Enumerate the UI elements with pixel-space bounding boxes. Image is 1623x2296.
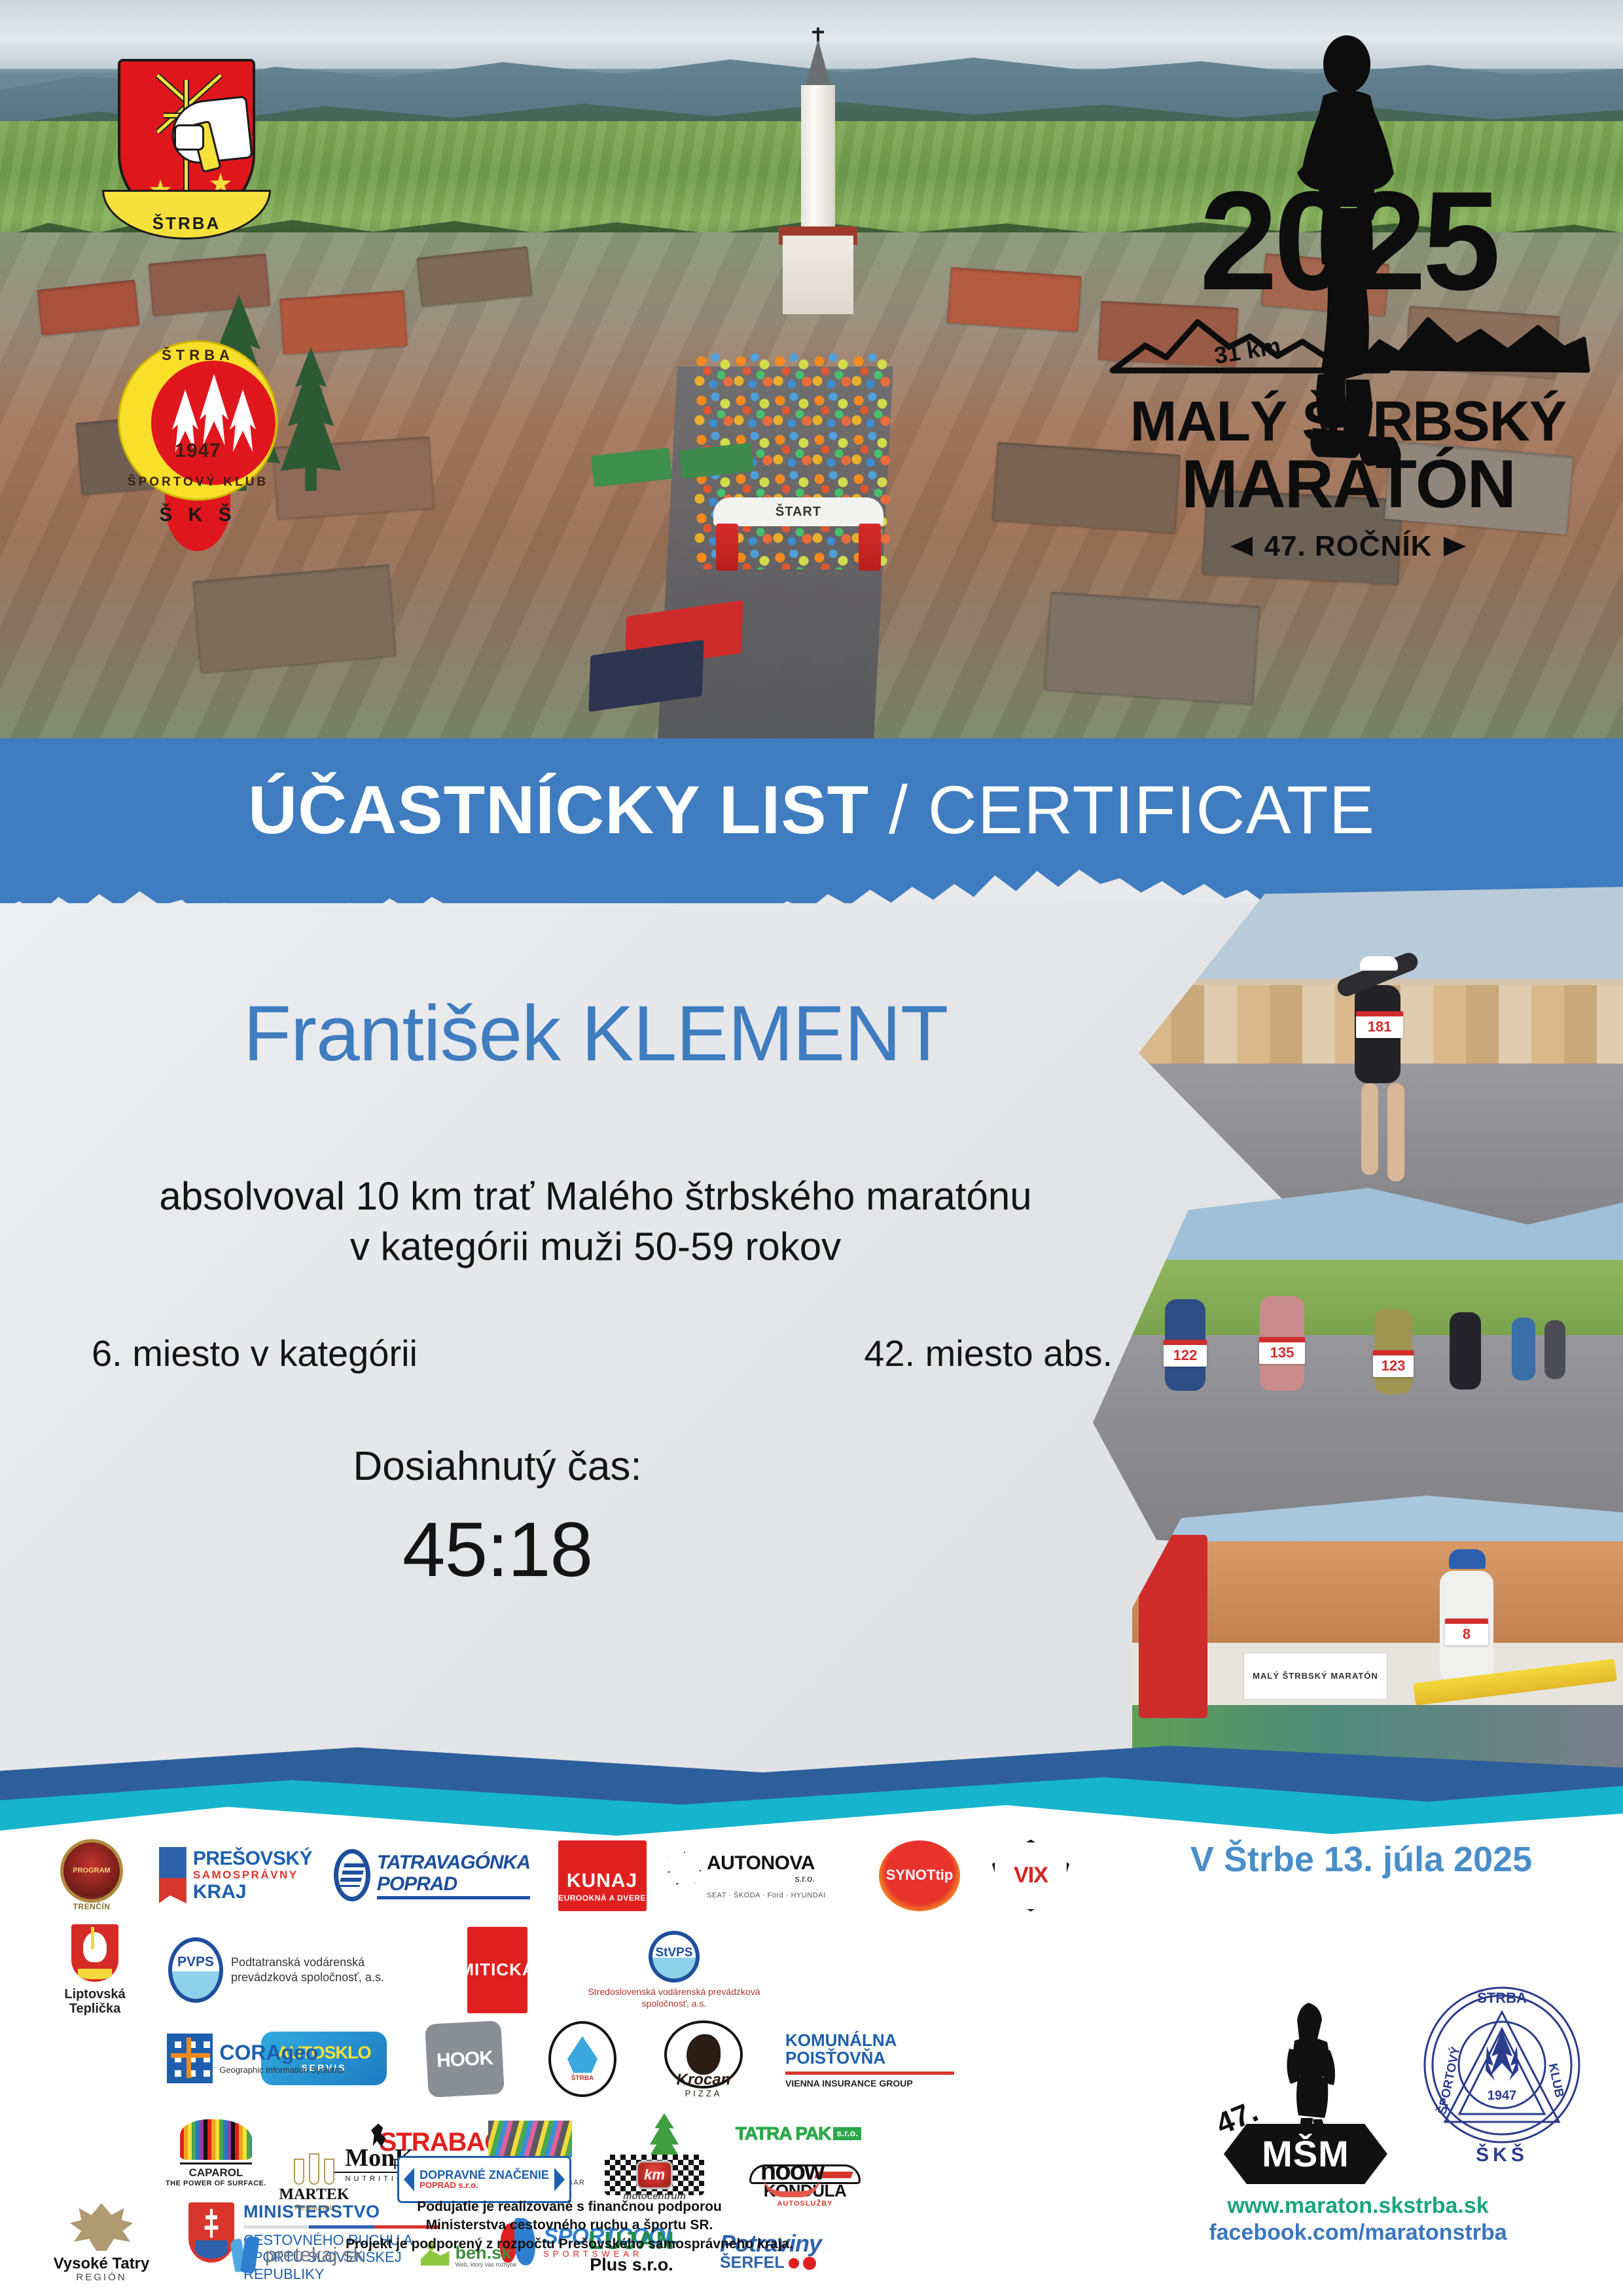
sponsor-label: TATRA PAK: [736, 2124, 831, 2144]
sponsor-label: PROGRAM: [73, 1867, 110, 1874]
bib-number: 123: [1373, 1350, 1414, 1377]
photo-collage: 181 122 135 123 MALÝ ŠTRBSKÝ MARATÓN 8: [1093, 887, 1623, 1738]
event-year: 2025: [1113, 170, 1584, 311]
sponsor-presovsky-kraj[interactable]: PREŠOVSKÝ SAMOSPRÁVNY KRAJ: [154, 1842, 317, 1908]
sponsor-sublabel: SAMOSPRÁVNY: [193, 1869, 312, 1882]
event-title-line2: MARATÓN: [1106, 452, 1590, 518]
page-title: ÚČASTNÍCKY LIST / CERTIFICATE: [0, 776, 1623, 844]
club-year: 1947: [105, 440, 291, 462]
sponsor-label: KUNAJ: [567, 1870, 637, 1892]
club-stamp-abbr: ŠKŠ: [1476, 2144, 1528, 2166]
triangle-right-icon: [1444, 537, 1466, 556]
sponsor-sublabel: POPRAD s.r.o.: [419, 2181, 549, 2190]
sponsor-sublabel: Stredoslovenská vodárenská prevádzková s…: [582, 1986, 766, 2009]
start-arch: ŠTART: [713, 497, 883, 569]
strba-banner: ŠTRBA: [102, 190, 271, 240]
sponsor-sublabel2: KRAJ: [193, 1881, 312, 1903]
triangle-left-icon: [1230, 537, 1253, 556]
club-top-label: ŠTRBA: [118, 347, 278, 364]
sponsor-sublabel: THE POWER OF SURFACE.: [166, 2179, 266, 2187]
strba-banner-label: ŠTRBA: [152, 213, 221, 234]
sponsor-sublabel: ŠERFEL: [720, 2254, 785, 2272]
sponsor-sublabel: Podtatranská vodárenská prevádzková spol…: [231, 1955, 427, 1986]
title-separator: /: [869, 772, 928, 848]
sponsor-label: CAPAROL: [189, 2167, 243, 2179]
finish-line-photo: MALÝ ŠTRBSKÝ MARATÓN 8: [1132, 1496, 1623, 1777]
sponsor-label: Krocan: [677, 2072, 731, 2089]
sponsor-brandlist: SEAT · ŠKODA · Ford · HYUNDAI: [707, 1892, 826, 1899]
sponsor-sublabel: Teplička: [69, 2001, 121, 2016]
event-logo: 2025 31 km 10 km MALÝ ŠTRBSKÝ MARATÓN 47…: [1106, 33, 1590, 589]
sponsor-autonova[interactable]: AUTONOVA s.r.o. SEAT · ŠKODA · Ford · HY…: [668, 1838, 857, 1913]
time-value: 45:18: [79, 1505, 916, 1594]
club-stamp-right: KLUB: [1546, 2062, 1567, 2099]
sponsor-label: MITICKÁ: [459, 1961, 535, 1979]
sponsor-hook[interactable]: HOOK: [412, 2020, 517, 2098]
website-link[interactable]: www.maraton.skstrba.sk: [1129, 2193, 1587, 2219]
sponsor-label: PREŠOVSKÝ: [193, 1848, 312, 1869]
sponsor-label: PVPS: [177, 1954, 214, 1969]
funding-disclaimer: Podujatie je realizované s finančnou pod…: [59, 2198, 1080, 2253]
club-bottom-label: ŠPORTOVÝ KLUB: [118, 475, 278, 490]
place-category: 6. miesto v kategórii: [92, 1332, 418, 1374]
sponsor-label: StVPS: [655, 1946, 692, 1960]
sponsor-label: DOPRAVNÉ ZNAČENIE: [419, 2169, 549, 2181]
sponsor-label: Liptovská: [64, 1987, 125, 2001]
church-tower: [779, 39, 857, 314]
disclaimer-line-2: Ministerstva cestovného ruchu a športu S…: [59, 2216, 1080, 2234]
sponsor-kunaj[interactable]: KUNAJ EUROOKNÁ A DVERE: [550, 1838, 654, 1913]
sponsor-liptovska-teplicka[interactable]: Liptovská Teplička: [46, 1924, 144, 2016]
club-abbreviation: Š K Š: [118, 504, 278, 526]
place-absolute: 42. miesto abs.: [864, 1332, 1113, 1374]
bib-number: 135: [1259, 1337, 1305, 1364]
msm-abbr: MŠM: [1262, 2136, 1349, 2172]
sponsor-krocan-pizza[interactable]: Krocan PIZZA: [648, 2018, 759, 2100]
strba-coat-of-arms: ŠTRBA: [118, 59, 255, 249]
contact-links[interactable]: www.maraton.skstrba.sk facebook.com/mara…: [1129, 2193, 1587, 2246]
mountain-range-icon: [1106, 308, 1590, 380]
runners-on-course-photo: 122 135 123: [1093, 1188, 1623, 1554]
description-line-2: v kategórii muži 50-59 rokov: [79, 1222, 1113, 1272]
club-stamp: ŠTRBA 1947 ŠPORTOVÝ KLUB ŠKŠ: [1414, 1983, 1590, 2179]
certificate-description: absolvoval 10 km trať Malého štrbského m…: [79, 1172, 1113, 1272]
club-stamp-year: 1947: [1488, 2089, 1517, 2103]
sponsor-pd-strba[interactable]: ŠTRBA: [533, 2020, 632, 2098]
runner-silhouette-icon: [1284, 2003, 1340, 2144]
sponsor-label: KOMUNÁLNA POISŤOVŇA: [785, 2032, 969, 2068]
sponsor-stvps[interactable]: StVPS Stredoslovenská vodárenská prevádz…: [556, 1931, 792, 2009]
sports-club-emblem: ŠTRBA 1947 ŠPORTOVÝ KLUB Š K Š: [105, 340, 288, 563]
sponsor-miticka[interactable]: MITICKÁ: [458, 1924, 537, 2016]
placement-row: 6. miesto v kategórii 42. miesto abs.: [92, 1332, 1113, 1374]
start-arch-label: ŠTART: [713, 497, 883, 526]
date-place: V Štrbe 13. júla 2025: [1132, 1839, 1590, 1880]
sponsor-sublabel: s.r.o.: [833, 2127, 861, 2140]
sponsor-sublabel: Web, ktorý vás rozhýbe: [455, 2262, 517, 2269]
sponsor-pvps[interactable]: PVPS Podtatranská vodárenská prevádzková…: [160, 1934, 435, 2006]
sponsor-program-trencin[interactable]: PROGRAM TRENČÍN: [46, 1839, 137, 1911]
sponsor-sublabel: Geographic Information Systems: [219, 2066, 343, 2075]
event-edition-label: 47. ROČNÍK: [1264, 530, 1433, 563]
finisher-photo: 181: [1139, 887, 1623, 1240]
sponsor-sublabel: POPRAD: [377, 1873, 530, 1895]
sponsor-label: HOOK: [436, 2047, 493, 2071]
sponsor-synottip[interactable]: SYNOTtip: [870, 1838, 969, 1913]
facebook-link[interactable]: facebook.com/maratonstrba: [1129, 2219, 1587, 2246]
sponsor-label: VIX: [1014, 1863, 1048, 1888]
title-thin: CERTIFICATE: [928, 772, 1375, 848]
sponsor-label: SYNOTtip: [886, 1867, 954, 1883]
sponsor-label: CORAgeo: [219, 2041, 318, 2064]
sponsor-sublabel: TRENČÍN: [73, 1903, 111, 1911]
description-line-1: absolvoval 10 km trať Malého štrbského m…: [79, 1172, 1113, 1222]
sponsor-sublabel: EUROOKNÁ A DVERE: [558, 1894, 646, 1903]
disclaimer-line-3: Projekt je podporený z rozpočtu Prešovsk…: [59, 2235, 1080, 2253]
sponsor-sublabel: Plus s.r.o.: [590, 2255, 673, 2275]
finish-banner: MALÝ ŠTRBSKÝ MARATÓN: [1243, 1653, 1387, 1700]
bib-number: 122: [1164, 1340, 1207, 1367]
club-stamp-left: ŠPORTOVÝ: [1435, 2045, 1463, 2116]
club-stamp-top: ŠTRBA: [1477, 1990, 1527, 2006]
sponsor-corageo[interactable]: CORAgeo Geographic Information Systems: [160, 2022, 350, 2094]
bib-number: 181: [1356, 1011, 1403, 1038]
sponsor-label: TATRAVAGÓNKA: [377, 1852, 530, 1873]
title-bold: ÚČASTNÍCKY LIST: [248, 772, 869, 848]
sponsor-grid: PROGRAM TRENČÍN PREŠOVSKÝ SAMOSPRÁVNY KR…: [39, 1826, 1126, 2245]
bib-number: 8: [1445, 1619, 1488, 1645]
sponsor-sublabel: PIZZA: [685, 2089, 722, 2098]
sponsor-vix[interactable]: VIX: [982, 1838, 1080, 1913]
sponsor-label: Vysoké Tatry: [54, 2255, 150, 2272]
participant-name: František KLEMENT: [92, 988, 1099, 1079]
sponsor-sublabel: VIENNA INSURANCE GROUP: [785, 2079, 913, 2089]
sponsor-sublabel: s.r.o.: [707, 1874, 815, 1884]
sponsor-label: AUTONOVA: [707, 1852, 815, 1874]
disclaimer-line-1: Podujatie je realizované s finančnou pod…: [59, 2198, 1080, 2216]
certificate-page: ŠTART ŠTRBA ŠTRB: [0, 0, 1623, 2296]
sponsor-tatravagonka[interactable]: TATRAVAGÓNKA POPRAD: [334, 1842, 530, 1908]
time-label: Dosiahnutý čas:: [79, 1443, 916, 1490]
sponsor-sublabel: REGIÓN: [76, 2272, 126, 2284]
msm-diamond: MŠM: [1224, 2124, 1387, 2184]
sponsor-komunalna-poistovna[interactable]: KOMUNÁLNA POISŤOVŇA VIENNA INSURANCE GRO…: [785, 2022, 969, 2098]
sponsor-sublabel: ŠTRBA: [571, 2075, 594, 2082]
msm-badge: 47. MŠM: [1211, 1990, 1400, 2193]
event-edition: 47. ROČNÍK: [1106, 530, 1590, 563]
event-title-line1: MALÝ ŠTRBSKÝ: [1106, 394, 1590, 449]
sponsor-label: km: [636, 2161, 673, 2189]
